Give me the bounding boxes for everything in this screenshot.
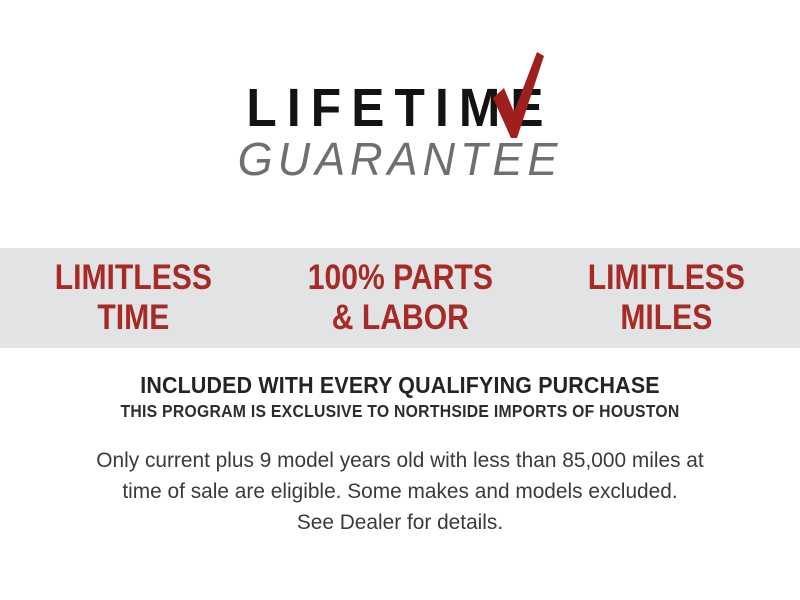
feature-column-miles: LIMITLESS MILES (552, 258, 781, 338)
disclaimer-line: time of sale are eligible. Some makes an… (51, 476, 749, 507)
footer-disclaimer: Only current plus 9 model years old with… (51, 445, 749, 538)
feature-band: LIMITLESS TIME 100% PARTS & LABOR LIMITL… (0, 248, 800, 348)
feature-line-2: TIME (19, 298, 248, 338)
logo-block: LIFETIME GUARANTEE (0, 50, 800, 195)
feature-line-1: LIMITLESS (588, 258, 745, 297)
logo-lifetime-text: LIFETIME (32, 80, 768, 136)
disclaimer-line: See Dealer for details. (51, 507, 749, 538)
feature-column-time: LIMITLESS TIME (19, 258, 248, 338)
logo-guarantee-text: GUARANTEE (8, 134, 792, 184)
lifetime-guarantee-ad: LIFETIME GUARANTEE LIMITLESS TIME 100% P… (0, 0, 800, 600)
feature-column-parts-labor: 100% PARTS & LABOR (285, 258, 514, 338)
feature-line-2: MILES (552, 298, 781, 338)
feature-line-1: 100% PARTS (307, 258, 492, 297)
feature-line-2: & LABOR (285, 298, 514, 338)
footer-headline: INCLUDED WITH EVERY QUALIFYING PURCHASE (28, 372, 772, 398)
feature-line-1: LIMITLESS (55, 258, 212, 297)
footer-subheadline: THIS PROGRAM IS EXCLUSIVE TO NORTHSIDE I… (40, 401, 760, 421)
disclaimer-line: Only current plus 9 model years old with… (51, 445, 749, 476)
